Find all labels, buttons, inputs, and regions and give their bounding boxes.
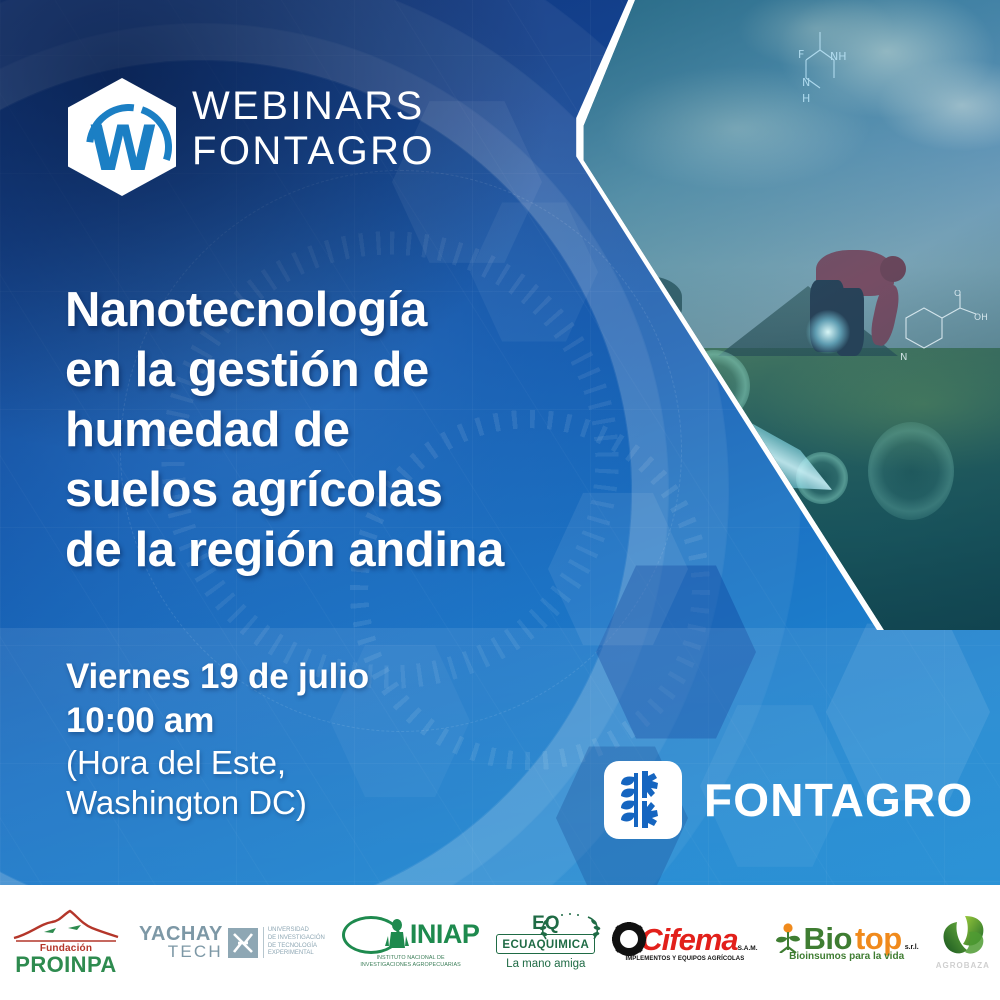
svg-text:OH: OH (974, 313, 988, 323)
svg-text:F: F (798, 48, 804, 61)
cifema-name: Cifema (640, 924, 737, 956)
iniap-emblem-icon (384, 918, 410, 952)
wheat-gear-icon (604, 761, 682, 839)
sponsor-ecuaquimica: EQ ECUAQUIMICA La mano amiga (496, 914, 595, 971)
sponsor-bar: Fundación PROINPA YACHAY TECH UNIVERSIDA… (0, 885, 1000, 1000)
fontagro-wordmark: FONTAGRO (704, 773, 973, 827)
iniap-sub-2: INVESTIGACIONES AGROPECUARIAS (360, 962, 461, 969)
brand-line-2: FONTAGRO (192, 129, 435, 174)
iniap-name: INIAP (410, 921, 480, 949)
pipette-glow (806, 310, 850, 354)
headline-line-2: en la gestión de (65, 340, 675, 400)
mountain-icon (10, 908, 122, 942)
headline-line-1: Nanotecnología (65, 280, 675, 340)
yachay-sub-2: DE INVESTIGACIÓN (268, 935, 325, 943)
headline-line-5: de la región andina (65, 520, 675, 580)
svg-text:N: N (900, 352, 907, 363)
laurel-wreath-icon (532, 913, 608, 943)
headline-line-3: humedad de (65, 400, 675, 460)
event-time: 10:00 am (66, 699, 369, 743)
yachay-mark-icon (228, 928, 258, 958)
sponsor-proinpa: Fundación PROINPA (10, 908, 122, 977)
event-details: Viernes 19 de julio 10:00 am (Hora del E… (66, 655, 369, 823)
cifema-sub: IMPLEMENTOS Y EQUIPOS AGRÍCOLAS (625, 956, 744, 962)
proinpa-name: PROINPA (15, 954, 116, 976)
biotop-name-a: Bio (804, 923, 852, 955)
biotop-suffix: s.r.l. (905, 944, 919, 951)
brand-line-1: WEBINARS (192, 84, 435, 129)
event-timezone-line-2: Washington DC) (66, 783, 369, 823)
event-timezone-line-1: (Hora del Este, (66, 743, 369, 783)
biotop-tagline: Bioinsumos para la vida (789, 952, 904, 962)
sponsor-iniap: INIAP INSTITUTO NACIONAL DE INVESTIGACIO… (342, 916, 480, 969)
sponsor-cifema: Cifema S.A.M. IMPLEMENTOS Y EQUIPOS AGRÍ… (612, 922, 757, 962)
event-date: Viernes 19 de julio (66, 655, 369, 699)
agro-name: AGROBAZA (936, 962, 990, 970)
gear-icon (612, 922, 646, 956)
plant-person-icon (775, 923, 801, 953)
biotop-name-b: top (855, 923, 902, 955)
leaf-icon (939, 914, 987, 960)
cifema-suffix: S.A.M. (738, 946, 758, 953)
svg-text:NH: NH (830, 50, 847, 63)
page-title: Nanotecnología en la gestión de humedad … (65, 280, 675, 580)
yachay-sub-1: UNIVERSIDAD (268, 927, 325, 935)
sponsor-yachay-tech: YACHAY TECH UNIVERSIDAD DE INVESTIGACIÓN… (139, 925, 325, 961)
ecuaquimica-tagline: La mano amiga (506, 959, 585, 971)
yachay-line-2: TECH (139, 944, 223, 960)
chemical-structure-icon: N O OH (884, 290, 994, 390)
headline-line-4: suelos agrícolas (65, 460, 675, 520)
svg-text:H: H (802, 92, 810, 105)
chemical-structure-icon: F NH N H (776, 24, 866, 116)
webinar-poster: F NH N H N O OH (0, 0, 1000, 1000)
sponsor-agro: AGROBAZA (936, 914, 990, 970)
iniap-sub-1: INSTITUTO NACIONAL DE (360, 955, 461, 962)
yachay-sub-4: EXPERIMENTAL (268, 950, 325, 958)
webinars-w-letter: W (68, 118, 176, 180)
svg-text:N: N (802, 76, 810, 89)
yachay-sub-3: DE TECNOLOGÍA (268, 943, 325, 951)
fontagro-logo: FONTAGRO (604, 761, 973, 839)
svg-text:O: O (954, 290, 961, 299)
sponsor-biotop: Bio top s.r.l. Bioinsumos para la vida (775, 923, 919, 963)
brand-wordmark: WEBINARS FONTAGRO (192, 84, 435, 174)
glow-spot (868, 422, 954, 520)
